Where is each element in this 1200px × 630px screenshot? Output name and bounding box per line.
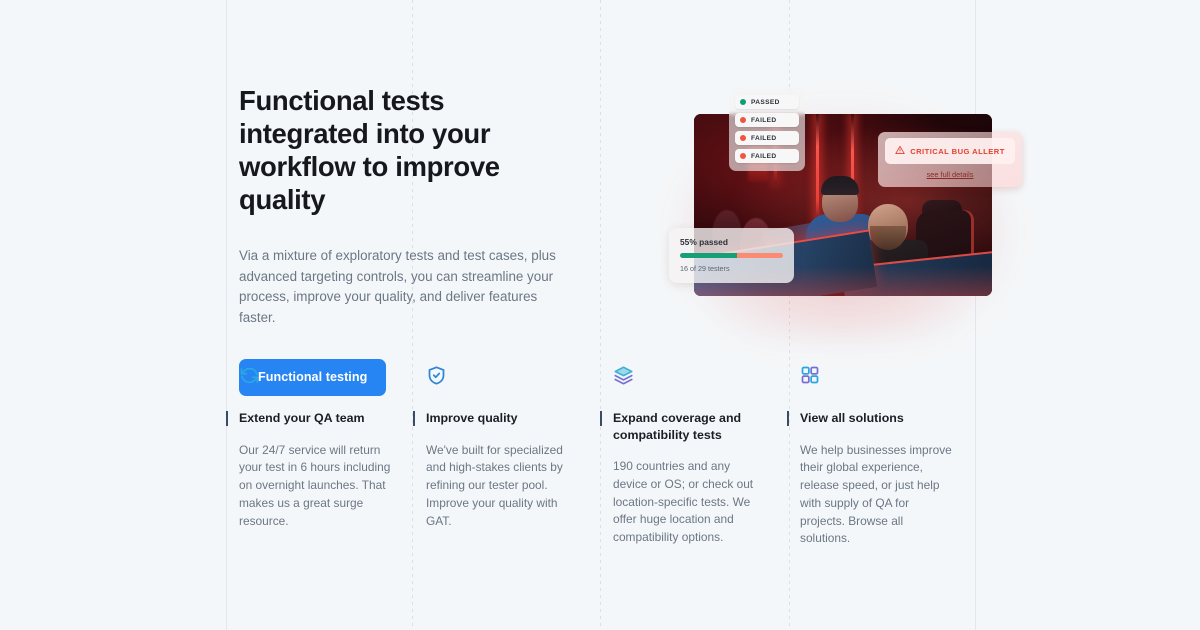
- feature-body: We help businesses improve their global …: [800, 442, 952, 549]
- feature-columns: Extend your QA team Our 24/7 service wil…: [226, 365, 976, 548]
- pass-rate-progress-bar: [680, 253, 783, 258]
- feature-accent-bar: [787, 411, 789, 426]
- test-status-card: PASSED FAILED FAILED FAILED: [729, 88, 805, 171]
- feature-accent-bar: [226, 411, 228, 426]
- page-title: Functional tests integrated into your wo…: [239, 84, 569, 216]
- feature-body: Our 24/7 service will return your test i…: [239, 442, 391, 531]
- feature-title: Extend your QA team: [239, 410, 391, 427]
- status-pill[interactable]: PASSED: [735, 95, 799, 109]
- status-pill-label: FAILED: [751, 153, 777, 160]
- status-pill[interactable]: FAILED: [735, 149, 799, 163]
- feature-card-expand-coverage[interactable]: Expand coverage and compatibility tests …: [600, 365, 787, 548]
- refresh-sync-icon: [239, 365, 391, 389]
- status-pill-label: FAILED: [751, 135, 777, 142]
- feature-body: 190 countries and any device or OS; or c…: [613, 458, 765, 547]
- pass-rate-card: 55% passed 16 of 29 testers: [669, 228, 794, 283]
- status-dot-failed-icon: [740, 153, 746, 159]
- layers-stack-icon: [613, 365, 765, 389]
- alert-title: CRITICAL BUG ALLERT: [910, 147, 1005, 156]
- feature-card-improve-quality[interactable]: Improve quality We've built for speciali…: [413, 365, 600, 548]
- feature-card-view-all-solutions[interactable]: View all solutions We help businesses im…: [787, 365, 974, 548]
- warning-triangle-icon: [895, 142, 905, 160]
- pass-rate-title: 55% passed: [680, 237, 783, 247]
- grid-squares-icon: [800, 365, 952, 389]
- status-dot-failed-icon: [740, 135, 746, 141]
- feature-body: We've built for specialized and high-sta…: [426, 442, 578, 531]
- hero-text-block: Functional tests integrated into your wo…: [239, 84, 569, 396]
- status-pill[interactable]: FAILED: [735, 113, 799, 127]
- feature-accent-bar: [600, 411, 602, 426]
- status-pill[interactable]: FAILED: [735, 131, 799, 145]
- hero-subtitle: Via a mixture of exploratory tests and t…: [239, 246, 564, 328]
- feature-card-extend-your-qa-team[interactable]: Extend your QA team Our 24/7 service wil…: [226, 365, 413, 548]
- feature-title: Expand coverage and compatibility tests: [613, 410, 765, 443]
- critical-bug-alert-card: CRITICAL BUG ALLERT see full details: [878, 132, 1022, 187]
- pass-rate-footer: 16 of 29 testers: [680, 264, 783, 273]
- shield-check-icon: [426, 365, 578, 389]
- hero-visual: PASSED FAILED FAILED FAILED: [660, 70, 1030, 340]
- feature-title: View all solutions: [800, 410, 952, 427]
- status-dot-passed-icon: [740, 99, 746, 105]
- alert-banner: CRITICAL BUG ALLERT: [885, 138, 1015, 164]
- pass-rate-progress-fill: [680, 253, 737, 258]
- page-root: Functional tests integrated into your wo…: [0, 0, 1200, 630]
- feature-accent-bar: [413, 411, 415, 426]
- see-full-details-link[interactable]: see full details: [885, 170, 1015, 179]
- status-pill-label: PASSED: [751, 99, 780, 106]
- feature-title: Improve quality: [426, 410, 578, 427]
- status-dot-failed-icon: [740, 117, 746, 123]
- status-pill-label: FAILED: [751, 117, 777, 124]
